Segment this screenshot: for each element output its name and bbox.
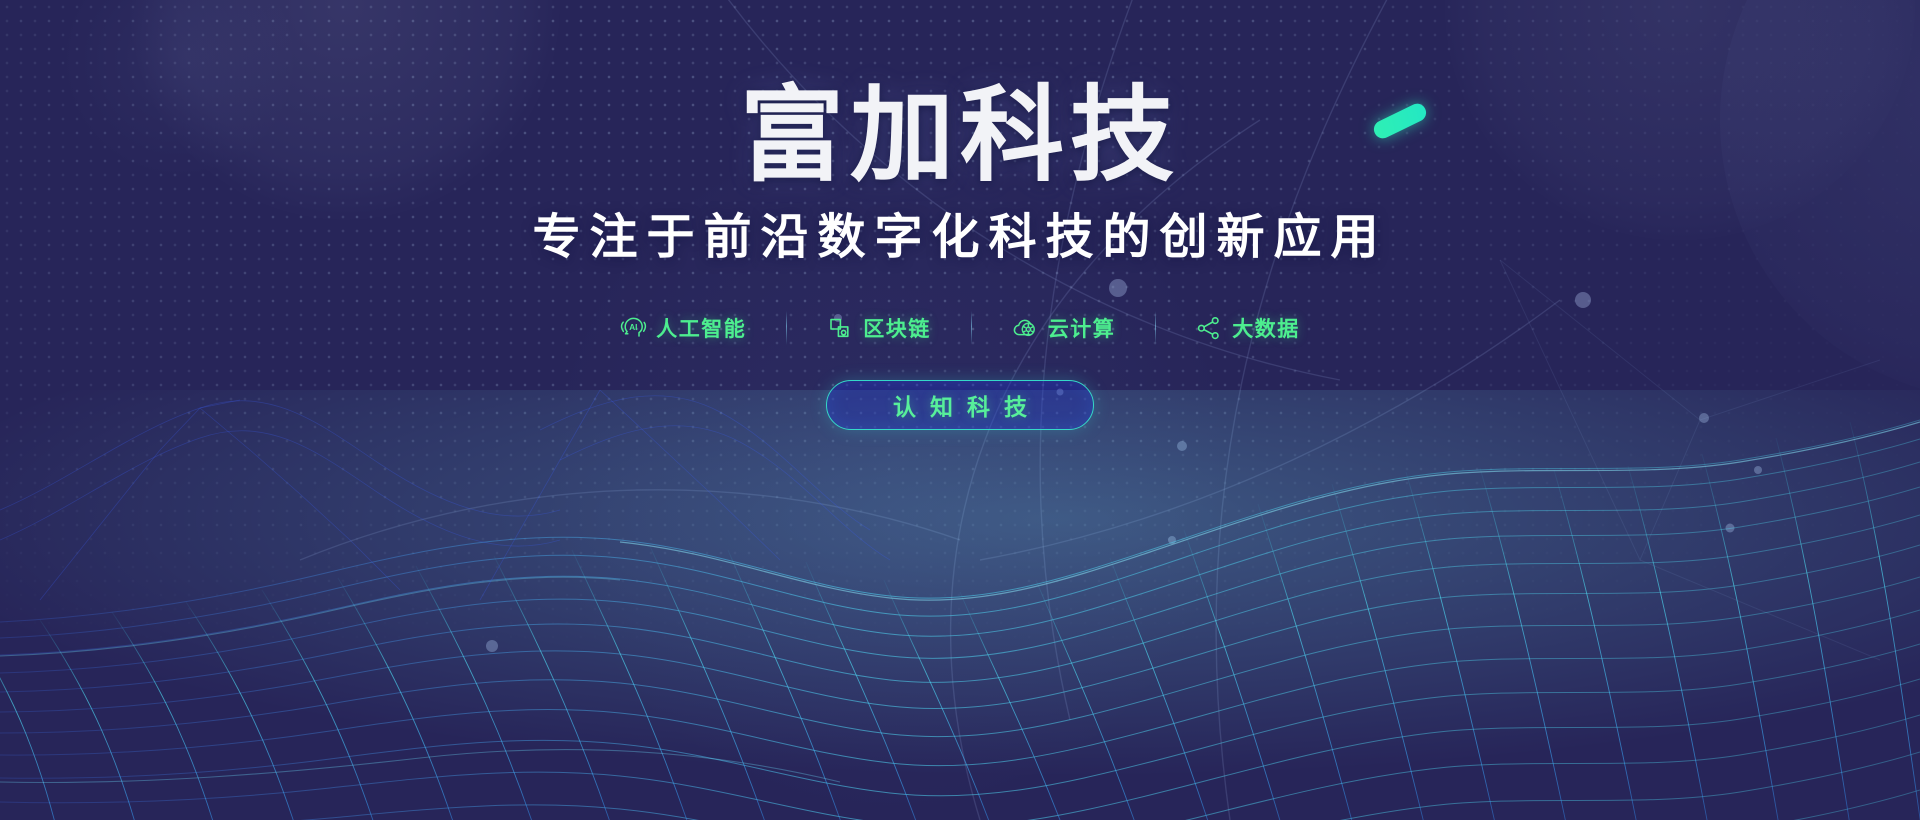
feature-tag-label: 云计算: [1048, 313, 1116, 343]
feature-tag-bigdata[interactable]: 大数据: [1156, 313, 1340, 343]
feature-tag-list: AI 人工智能 区块链: [580, 308, 1340, 348]
cognitive-tech-badge[interactable]: 认知科技: [826, 380, 1094, 430]
brand-logo: 富加科技: [740, 84, 1180, 188]
feature-tag-label: 人工智能: [656, 313, 746, 343]
cloud-gear-icon: [1012, 315, 1038, 341]
blockchain-blocks-icon: [827, 315, 853, 341]
feature-tag-label: 大数据: [1232, 313, 1300, 343]
hero-subtitle: 专注于前沿数字化科技的创新应用: [532, 214, 1387, 262]
badge-label: 认知科技: [879, 388, 1041, 422]
logo-accent-stroke: [1371, 101, 1429, 142]
share-network-icon: [1196, 315, 1222, 341]
hero-content: 富加科技 专注于前沿数字化科技的创新应用 AI 人工智能: [0, 0, 1920, 820]
hero-banner: 富加科技 专注于前沿数字化科技的创新应用 AI 人工智能: [0, 0, 1920, 820]
feature-tag-blockchain[interactable]: 区块链: [787, 313, 971, 343]
feature-tag-cloud[interactable]: 云计算: [972, 313, 1156, 343]
feature-tag-ai[interactable]: AI 人工智能: [580, 313, 786, 343]
brand-logo-text: 富加科技: [740, 78, 1180, 194]
feature-tag-label: 区块链: [863, 313, 931, 343]
ai-head-icon: AI: [620, 315, 646, 341]
svg-text:AI: AI: [629, 323, 637, 332]
